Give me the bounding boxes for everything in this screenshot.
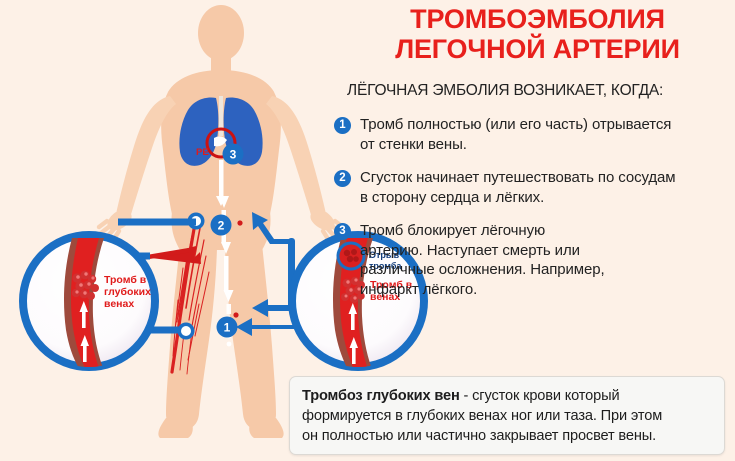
page-title: ТРОМБОЭМБОЛИЯ ЛЕГОЧНОЙ АРТЕРИИ — [345, 4, 730, 64]
left-caption-line3: венах — [104, 298, 134, 310]
pe-label: PE — [196, 147, 209, 158]
step-text-3: Тромб блокирует лёгочную артерию. Наступ… — [360, 221, 734, 299]
left-caption-line2: глубоких — [104, 286, 151, 298]
step-1-line-1: Тромб полностью (или его часть) отрывает… — [360, 115, 734, 135]
left-caption-line1: Тромб в — [104, 274, 147, 286]
subtitle: ЛЁГОЧНАЯ ЭМБОЛИЯ ВОЗНИКАЕТ, КОГДА: — [347, 82, 732, 100]
step-badge-2: 2 — [334, 170, 351, 187]
body-marker-2: 2 — [218, 219, 225, 233]
step-item-2: 2 Сгусток начинает путешествовать по сос… — [334, 168, 734, 207]
step-2-line-1: Сгусток начинает путешествовать по сосуд… — [360, 168, 734, 188]
definition-line-2: формируется в глубоких венах ног или таз… — [302, 406, 712, 426]
definition-line-1-rest: - сгусток крови который — [460, 388, 620, 404]
steps-list: 1 Тромб полностью (или его часть) отрыва… — [334, 115, 734, 313]
definition-line-1: Тромбоз глубоких вен - сгусток крови кот… — [302, 386, 712, 406]
body-marker-3: 3 — [230, 148, 237, 162]
infographic-root: PE 3 — [0, 0, 735, 461]
definition-line-3: он полностью или частично закрывает прос… — [302, 426, 712, 446]
left-magnifier-circle: Тромб в глубоких венах — [23, 235, 155, 370]
step-3-line-1: Тромб блокирует лёгочную — [360, 221, 734, 241]
step-item-3: 3 Тромб блокирует лёгочную артерию. Наст… — [334, 221, 734, 299]
definition-term: Тромбоз глубоких вен — [302, 388, 460, 404]
step-3-line-2: артерию. Наступает смерть или — [360, 241, 734, 261]
step-3-line-3: различные осложнения. Например, — [360, 260, 734, 280]
body-marker-1: 1 — [224, 321, 231, 335]
step-badge-1: 1 — [334, 117, 351, 134]
step-badge-3: 3 — [334, 223, 351, 240]
step-text-1: Тромб полностью (или его часть) отрывает… — [360, 115, 734, 154]
step-3-line-4: инфаркт лёгкого. — [360, 280, 734, 300]
title-line-1: ТРОМБОЭМБОЛИЯ — [345, 4, 730, 34]
title-line-2: ЛЕГОЧНОЙ АРТЕРИИ — [345, 34, 730, 64]
step-2-line-2: в сторону сердца и лёгких. — [360, 188, 734, 208]
definition-box: Тромбоз глубоких вен - сгусток крови кот… — [289, 376, 725, 455]
step-item-1: 1 Тромб полностью (или его часть) отрыва… — [334, 115, 734, 154]
step-1-line-2: от стенки вены. — [360, 135, 734, 155]
step-text-2: Сгусток начинает путешествовать по сосуд… — [360, 168, 734, 207]
